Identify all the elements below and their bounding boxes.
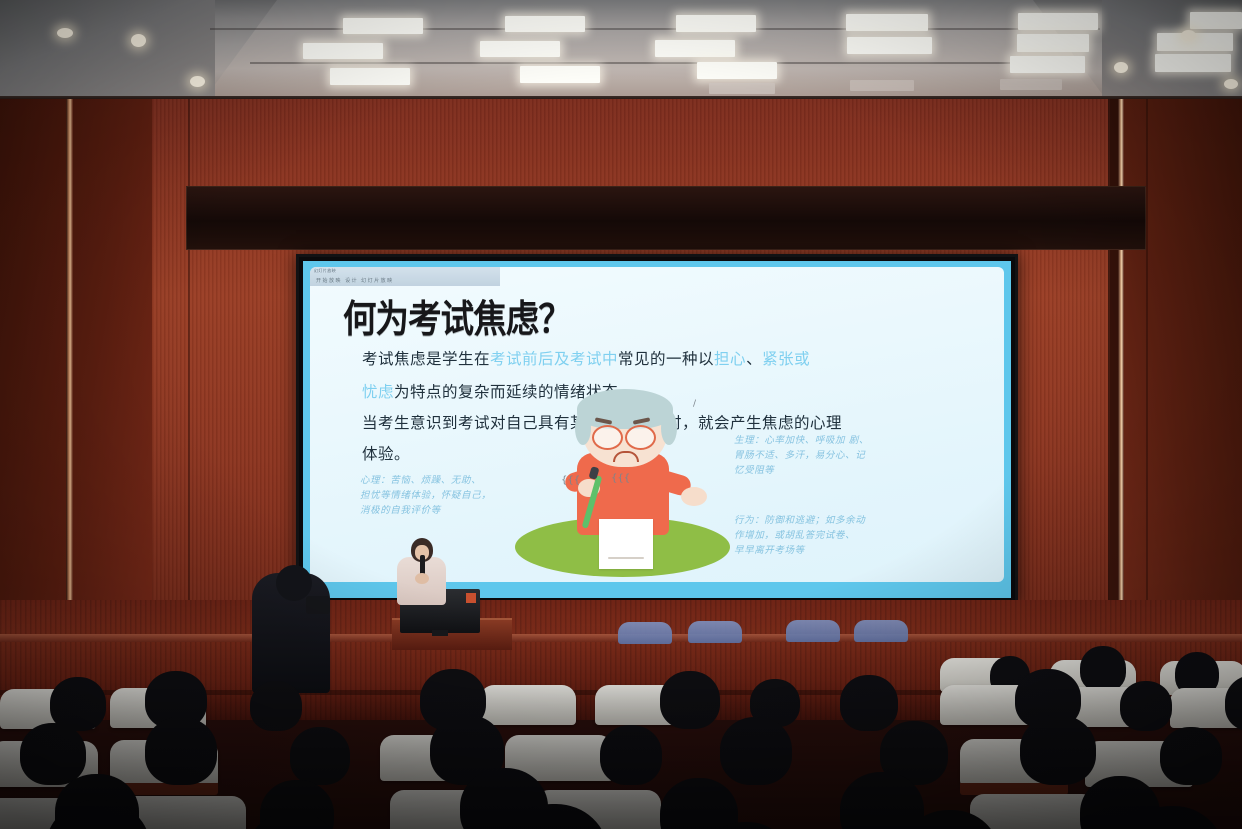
stage-chair (786, 620, 840, 642)
audience-head (1020, 715, 1096, 785)
audience-head (720, 717, 792, 785)
powerpoint-toolbar-strip[interactable]: 幻灯片放映 开始放映 设计 幻灯片放映 (310, 267, 500, 286)
monitor-stand (432, 630, 448, 636)
ceiling-lamp (520, 66, 600, 83)
exam-paper (599, 519, 653, 569)
ceiling-lamp (697, 62, 777, 79)
glasses-right-lens (625, 425, 656, 450)
nervous-squiggle-top: / (693, 401, 696, 408)
ceiling-lamp (1155, 54, 1231, 72)
glasses-left-lens (592, 425, 623, 450)
slide-text-highlight: 忧虑 (362, 383, 394, 401)
hair-side-left (575, 411, 591, 445)
presenter-hands (415, 573, 429, 584)
ceiling-soffit-left (0, 0, 215, 100)
toolbar-bottom-label: 开始放映 设计 幻灯片放映 (316, 277, 394, 284)
hair (577, 389, 673, 429)
slide-frame: 幻灯片放映 开始放映 设计 幻灯片放映 何为考试焦虑？ 考试焦虑是学生在考试前后… (303, 261, 1011, 598)
slide-text-highlight: 考试前后及考试中 (490, 350, 618, 368)
audience-area (0, 640, 1242, 829)
ceiling-lamp (846, 14, 928, 31)
ceiling-lamp-dim (850, 80, 914, 91)
ceiling-lamp (676, 15, 756, 32)
note-physiological: 生理：心率加快、呼吸加 剧、 胃肠不适、多汗，易分心、记 忆受阻等 (734, 433, 989, 478)
ceiling-lamp (1017, 34, 1089, 52)
stage-chair (854, 620, 908, 642)
slide-body-line-1: 考试焦虑是学生在考试前后及考试中常见的一种以担心、紧张或 (362, 347, 810, 369)
ceiling-lamp (655, 40, 735, 57)
slide-body-line-4: 体验。 (362, 442, 410, 464)
slide-content: 幻灯片放映 开始放映 设计 幻灯片放映 何为考试焦虑？ 考试焦虑是学生在考试前后… (310, 267, 1004, 582)
slide-text-highlight: 紧张或 (762, 350, 810, 368)
nervous-squiggle-right: {{{ (611, 475, 614, 482)
audience-head (290, 727, 350, 785)
slide-text-plain: 常见的一种以 (618, 350, 714, 368)
audience-head (1160, 727, 1222, 785)
mouth-frown (613, 451, 639, 462)
slide-title: 何为考试焦虑？ (343, 288, 571, 343)
ceiling-lamp (847, 37, 932, 54)
ceiling-lamp (343, 18, 423, 34)
projection-screen[interactable]: 幻灯片放映 开始放映 设计 幻灯片放映 何为考试焦虑？ 考试焦虑是学生在考试前后… (296, 254, 1018, 605)
hair-side-right (661, 411, 677, 445)
audience-head (660, 671, 720, 729)
ceiling-lamp (1190, 12, 1242, 29)
audience-head (1120, 681, 1172, 731)
ceiling (0, 0, 1242, 100)
wall-light-strip-left (66, 99, 73, 679)
ceiling-downlight (1224, 79, 1238, 89)
hand-right (681, 487, 707, 506)
toolbar-top-label: 幻灯片放映 (314, 268, 336, 274)
ceiling-lamp (303, 43, 383, 59)
wall-dark-band (186, 186, 1146, 250)
slide-text-plain: 、 (746, 350, 762, 368)
ceiling-lamp-dim (709, 83, 775, 94)
ceiling-lamp (1018, 13, 1098, 30)
audience-head (250, 681, 302, 731)
camera (306, 596, 330, 614)
ceiling-lamp-dim (1000, 79, 1062, 90)
audience-head (600, 725, 662, 785)
nervous-squiggle-left: {{{ (561, 477, 564, 484)
note-behavioral: 行为：防御和逃避；如多余动 作增加，或胡乱答完试卷、 早早离开考场等 (734, 513, 992, 558)
wall-panel-left (0, 99, 152, 679)
anxious-student-illustration: {{{ {{{ / (515, 395, 730, 582)
audience-head (1080, 646, 1126, 692)
ceiling-lamp (505, 16, 585, 32)
ceiling-lamp (1010, 56, 1085, 73)
slide-text-plain: 考试焦虑是学生在 (362, 350, 490, 368)
audience-head (145, 717, 217, 785)
ceiling-downlight (1181, 30, 1196, 41)
lecture-hall-photo: 幻灯片放映 开始放映 设计 幻灯片放映 何为考试焦虑？ 考试焦虑是学生在考试前后… (0, 0, 1242, 829)
ceiling-downlight (57, 28, 73, 38)
monitor-badge (466, 593, 476, 603)
ceiling-downlight (190, 76, 205, 87)
ceiling-downlight (1114, 62, 1128, 73)
audience-head (840, 675, 898, 731)
ceiling-lamp (480, 41, 560, 57)
audience-head (20, 723, 86, 785)
slide-text-plain: 体验。 (362, 445, 410, 463)
ceiling-downlight (131, 34, 146, 47)
slide-text-highlight: 担心 (714, 350, 746, 368)
audience-head (660, 778, 738, 829)
ceiling-lamp (330, 68, 410, 85)
